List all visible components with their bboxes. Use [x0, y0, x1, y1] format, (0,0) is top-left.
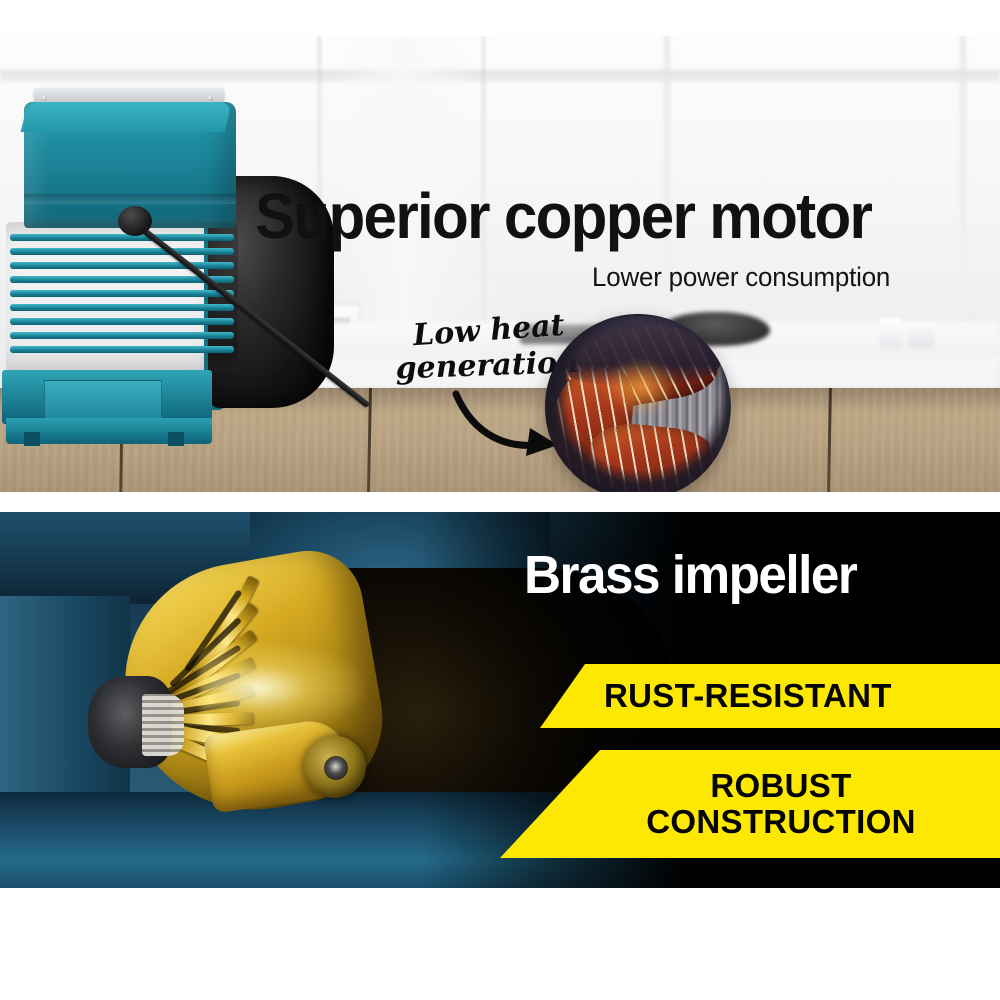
cooling-fin — [10, 346, 234, 353]
bearing-ring — [142, 694, 184, 756]
feature-banner-rust-resistant: RUST-RESISTANT — [540, 664, 1000, 728]
wall-rail — [0, 70, 1000, 82]
cooling-fin — [10, 248, 234, 255]
panel-divider — [0, 492, 1000, 512]
feature-banner-label-line-1: ROBUST — [710, 767, 851, 804]
plate-screw — [208, 96, 213, 101]
feature-banner-label: RUST-RESISTANT — [604, 678, 892, 714]
cooling-fin — [10, 262, 234, 269]
infographic-sheet: Superior copper motor Lower power consum… — [0, 0, 1000, 1000]
bottom-page-title: Brass impeller — [524, 548, 961, 602]
terminal-box-top — [21, 102, 232, 132]
terminal-box-lip — [24, 194, 236, 204]
foot-notch — [24, 432, 40, 446]
glassware — [908, 322, 934, 348]
feature-banner-label-line-2: CONSTRUCTION — [646, 803, 915, 840]
cooling-fin — [10, 318, 234, 325]
cooling-fin — [10, 304, 234, 311]
cooling-fin — [10, 290, 234, 297]
impeller-shaft-center — [324, 756, 348, 780]
page-title: Superior copper motor — [255, 184, 913, 248]
cable-grommet — [118, 206, 152, 236]
impeller-glint — [200, 640, 368, 736]
plate-screw — [42, 96, 47, 101]
top-subheadline: Lower power consumption — [592, 262, 995, 293]
pump-motor-product — [0, 88, 362, 492]
glassware — [880, 318, 902, 348]
feature-banner-label: ROBUST CONSTRUCTION — [646, 768, 915, 839]
copper-stator-inset — [545, 314, 731, 492]
cooling-fin — [10, 332, 234, 339]
brass-impeller — [92, 548, 402, 854]
stator-outer-ring — [545, 314, 731, 492]
foot-notch — [168, 432, 184, 446]
cooling-fin — [10, 234, 234, 241]
top-feature-panel: Superior copper motor Lower power consum… — [0, 36, 1000, 492]
